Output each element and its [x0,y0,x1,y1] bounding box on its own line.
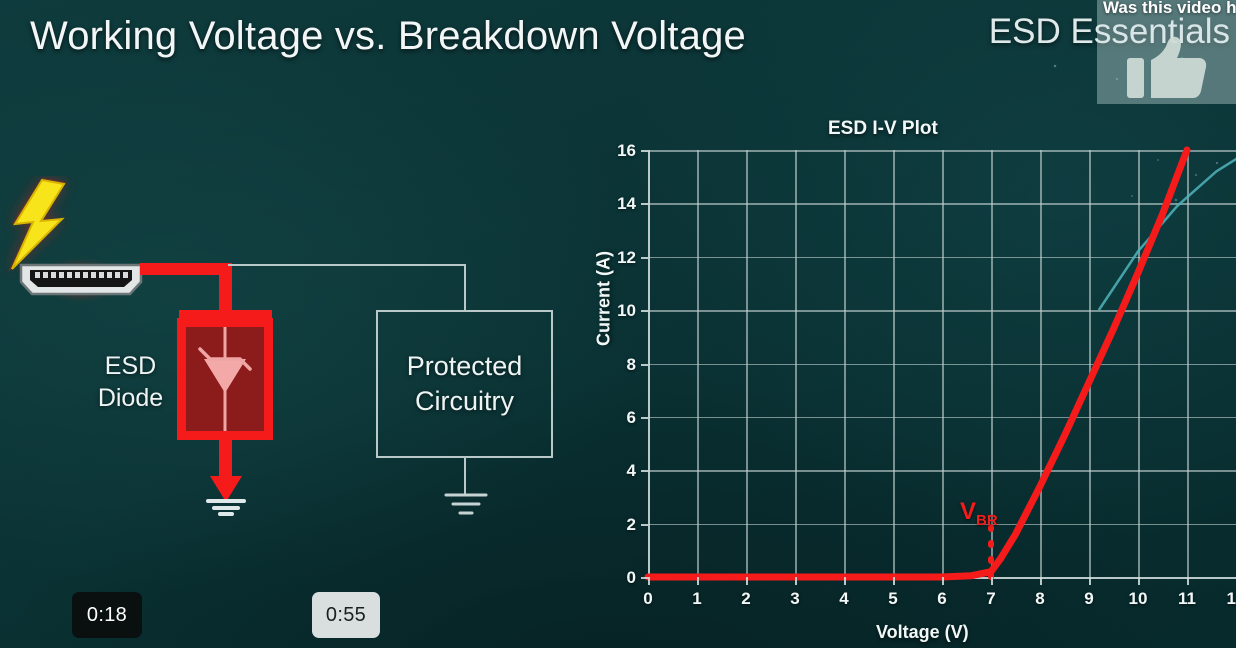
y-tickmark [641,257,648,259]
total-time-badge[interactable]: 0:55 [312,592,380,638]
x-tickmark [991,577,993,585]
iv-chart: ESD I-V Plot Current (A) Voltage (V) 024… [576,108,1236,648]
slide-canvas: Working Voltage vs. Breakdown Voltage ES… [0,0,1236,648]
zener-diode-icon [186,327,264,431]
y-tick-label: 8 [602,355,636,375]
chart-plot-area [648,150,1236,577]
x-tickmark [942,577,944,585]
x-tick-label: 12 [1219,589,1236,609]
y-tick-label: 4 [602,461,636,481]
x-tickmark [697,577,699,585]
esd-protection-circuit: ESD Diode Protected Circuitry [0,150,580,570]
y-tickmark [641,310,648,312]
esd-diode-label: ESD Diode [88,350,173,414]
x-tick-label: 10 [1121,589,1155,609]
x-tick-label: 9 [1072,589,1106,609]
x-tickmark [746,577,748,585]
x-tick-label: 1 [680,589,714,609]
y-tick-label: 6 [602,408,636,428]
y-tickmark [641,417,648,419]
x-tickmark [648,577,650,585]
thumbs-up-icon[interactable] [1125,36,1209,98]
survey-question: Was this video helpful? [1103,0,1236,18]
y-tickmark [641,470,648,472]
x-tickmark [1040,577,1042,585]
x-tick-label: 6 [925,589,959,609]
x-tickmark [844,577,846,585]
x-tickmark [795,577,797,585]
x-tick-label: 5 [876,589,910,609]
y-tick-label: 0 [602,568,636,588]
x-tick-label: 4 [827,589,861,609]
y-tick-label: 14 [602,194,636,214]
esd-ground-icon [200,450,252,516]
vbr-subscript: BR [976,512,998,529]
x-tickmark [1138,577,1140,585]
hdmi-connector-icon [18,260,144,298]
y-tick-label: 16 [602,141,636,161]
y-tickmark [641,577,648,579]
signal-wire-horizontal [228,264,466,266]
x-tickmark [893,577,895,585]
esd-diode-component[interactable] [177,318,273,440]
page-title: Working Voltage vs. Breakdown Voltage [30,14,746,59]
x-tick-label: 3 [778,589,812,609]
breakdown-voltage-annotation: VBR [960,498,998,529]
x-tick-label: 2 [729,589,763,609]
y-tick-label: 2 [602,515,636,535]
y-tickmark [641,364,648,366]
chart-x-axis-label: Voltage (V) [876,622,969,643]
y-tickmark [641,203,648,205]
chart-curves [648,150,1236,577]
video-survey-overlay[interactable]: Was this video helpful? [1097,0,1236,104]
accent-arc [1099,150,1236,310]
esd-diode-label-line1: ESD [105,352,156,380]
current-time-badge[interactable]: 0:18 [72,592,142,638]
esd-diode-label-line2: Diode [98,384,163,412]
x-tick-label: 11 [1170,589,1204,609]
protected-label-line2: Circuitry [415,384,514,419]
protected-ground-icon [442,490,490,520]
protected-label-line1: Protected [407,349,523,384]
y-tickmark [641,150,648,152]
y-tick-label: 10 [602,301,636,321]
chart-title: ESD I-V Plot [828,118,938,140]
vbr-symbol: V [960,498,976,525]
x-tickmark [1187,577,1189,585]
y-tickmark [641,524,648,526]
x-tick-label: 0 [631,589,665,609]
protected-circuitry-block[interactable]: Protected Circuitry [376,310,553,458]
y-tick-label: 12 [602,248,636,268]
iv-curve [648,150,1187,577]
x-tick-label: 7 [974,589,1008,609]
protected-circuitry-label: Protected Circuitry [378,312,551,456]
x-tickmark [1089,577,1091,585]
signal-wire-vertical [464,264,466,312]
x-tick-label: 8 [1023,589,1057,609]
